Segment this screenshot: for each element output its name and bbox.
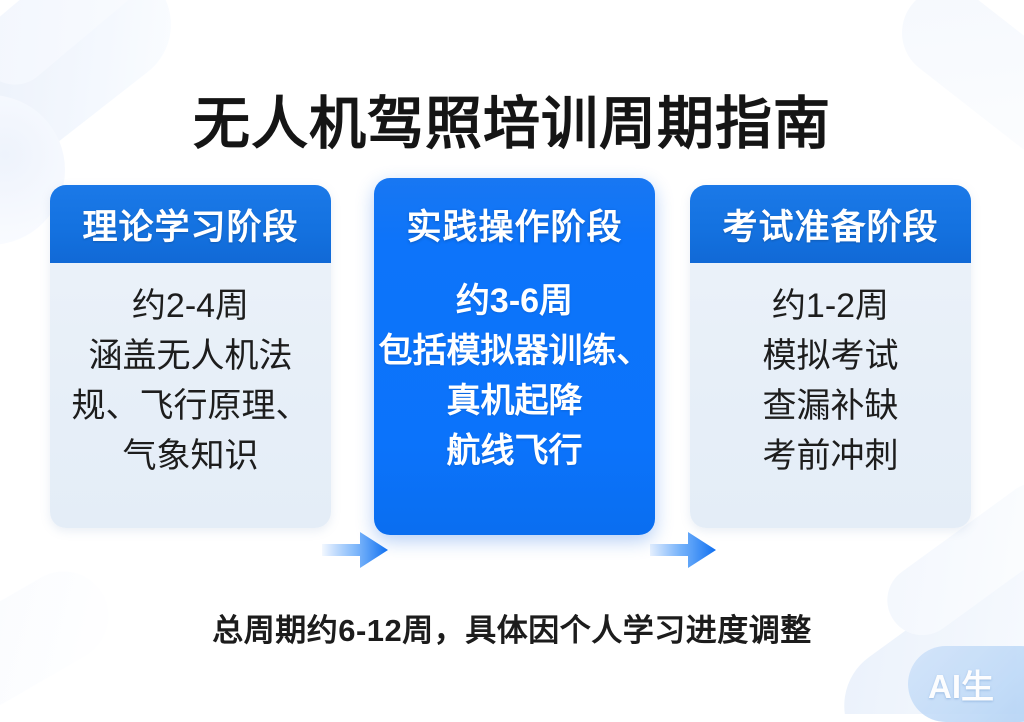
stage-card-theory-line-3: 规、飞行原理、 — [72, 381, 310, 431]
arrow-right-icon-stage1-to-stage2 — [322, 528, 388, 572]
stage-card-theory-header: 理论学习阶段 — [50, 185, 331, 263]
stage-card-practice[interactable]: 实践操作阶段 约3-6周 包括模拟器训练、 真机起降 航线飞行 — [374, 178, 655, 535]
stage-card-exam-prep-line-3: 查漏补缺 — [763, 381, 899, 431]
stage-flow: 理论学习阶段 约2-4周 涵盖无人机法 规、飞行原理、 气象知识 实践操作阶段 … — [0, 170, 1024, 540]
stage-card-exam-prep-line-4: 考前冲刺 — [763, 431, 899, 481]
stage-card-practice-line-1: 约3-6周 — [456, 276, 573, 326]
stage-card-theory-line-2: 涵盖无人机法 — [89, 331, 293, 381]
stage-card-practice-line-4: 航线飞行 — [447, 426, 583, 476]
stage-card-exam-prep-header: 考试准备阶段 — [690, 185, 971, 263]
stage-card-practice-line-2: 包括模拟器训练、 — [379, 326, 651, 376]
stage-card-exam-prep-line-1: 约1-2周 — [772, 281, 889, 331]
stage-card-exam-prep-line-2: 模拟考试 — [763, 331, 899, 381]
summary-note: 总周期约6-12周，具体因个人学习进度调整 — [0, 605, 1024, 650]
stage-card-theory-body: 约2-4周 涵盖无人机法 规、飞行原理、 气象知识 — [50, 263, 331, 528]
watermark-badge: AI生 — [908, 646, 1024, 722]
stage-card-exam-prep-body: 约1-2周 模拟考试 查漏补缺 考前冲刺 — [690, 263, 971, 528]
page-title: 无人机驾照培训周期指南 — [0, 78, 1024, 160]
watermark-text: AI生 — [928, 660, 994, 708]
stage-card-theory[interactable]: 理论学习阶段 约2-4周 涵盖无人机法 规、飞行原理、 气象知识 — [50, 185, 331, 528]
arrow-right-icon-stage2-to-stage3 — [650, 528, 716, 572]
stage-card-theory-line-4: 气象知识 — [123, 431, 259, 481]
stage-card-theory-line-1: 约2-4周 — [132, 281, 249, 331]
stage-card-exam-prep[interactable]: 考试准备阶段 约1-2周 模拟考试 查漏补缺 考前冲刺 — [690, 185, 971, 528]
stage-card-practice-line-3: 真机起降 — [447, 376, 583, 426]
stage-card-practice-header: 实践操作阶段 — [374, 178, 655, 270]
stage-card-practice-body: 约3-6周 包括模拟器训练、 真机起降 航线飞行 — [374, 270, 655, 535]
